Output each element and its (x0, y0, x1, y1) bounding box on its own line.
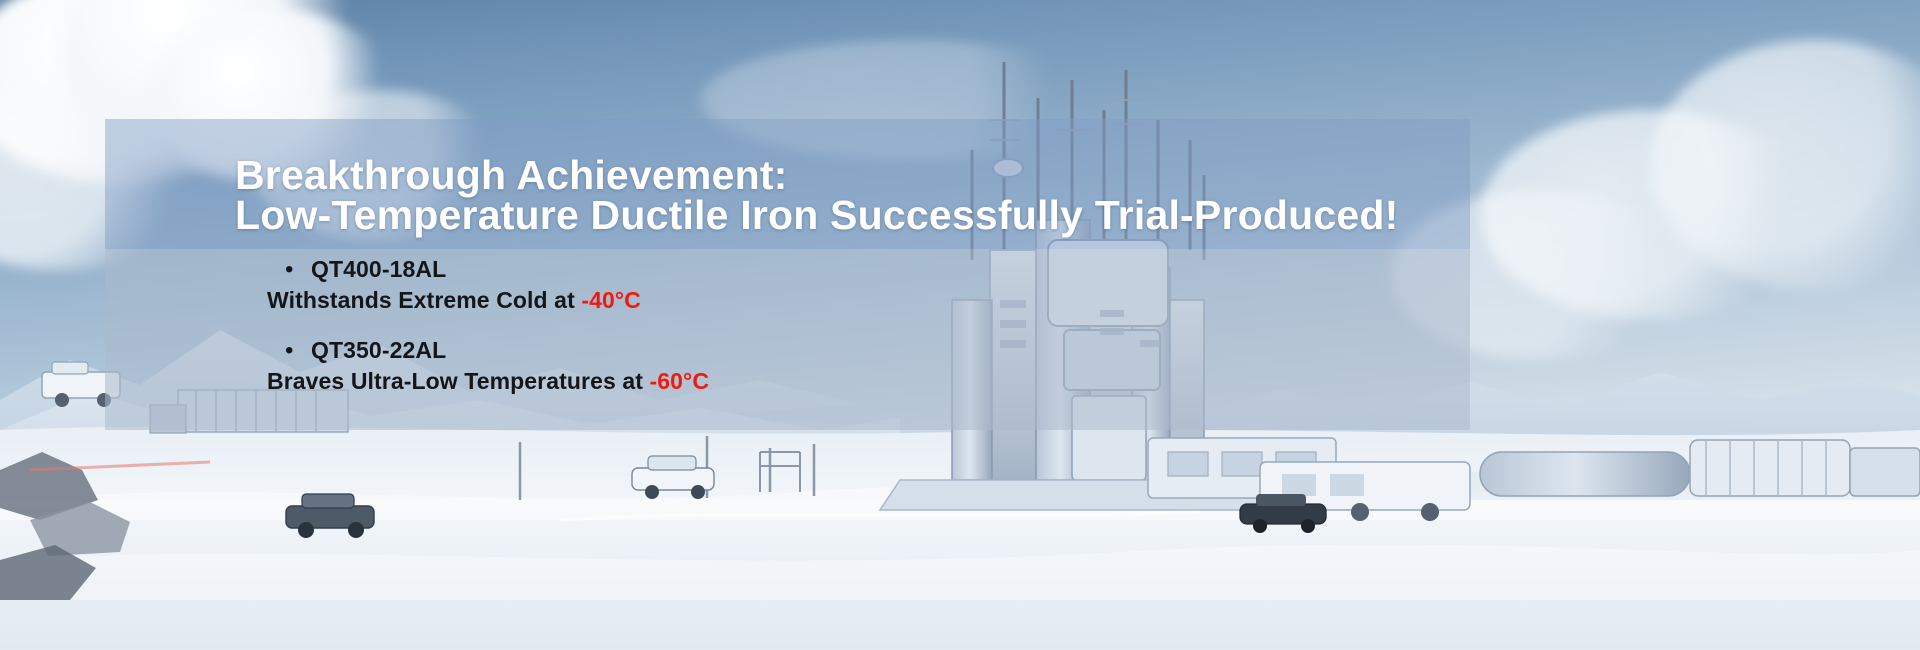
bullet-list: • QT400-18AL Withstands Extreme Cold at … (275, 255, 1375, 395)
bullet-description-row: Braves Ultra-Low Temperatures at -60°C (267, 367, 1375, 395)
description-text: Withstands Extreme Cold at (267, 287, 581, 313)
headline-line-1: Breakthrough Achievement: (235, 155, 1455, 195)
promotional-banner: Breakthrough Achievement: Low-Temperatur… (0, 0, 1920, 650)
bullet-item: • QT350-22AL Braves Ultra-Low Temperatur… (275, 336, 1375, 395)
overlay-panel: Breakthrough Achievement: Low-Temperatur… (105, 119, 1470, 430)
headline-line-2: Low-Temperature Ductile Iron Successfull… (235, 195, 1455, 235)
bullet-code-row: • QT400-18AL (285, 255, 1375, 284)
headline-block: Breakthrough Achievement: Low-Temperatur… (235, 155, 1455, 235)
material-grade-label: QT350-22AL (311, 336, 446, 364)
material-grade-label: QT400-18AL (311, 255, 446, 283)
temperature-value: -40°C (581, 287, 641, 313)
bullet-description-row: Withstands Extreme Cold at -40°C (267, 286, 1375, 314)
bullet-marker-icon: • (285, 256, 311, 284)
bullet-item: • QT400-18AL Withstands Extreme Cold at … (275, 255, 1375, 314)
bullet-code-row: • QT350-22AL (285, 336, 1375, 365)
temperature-value: -60°C (650, 368, 710, 394)
bullet-marker-icon: • (285, 337, 311, 365)
description-text: Braves Ultra-Low Temperatures at (267, 368, 650, 394)
